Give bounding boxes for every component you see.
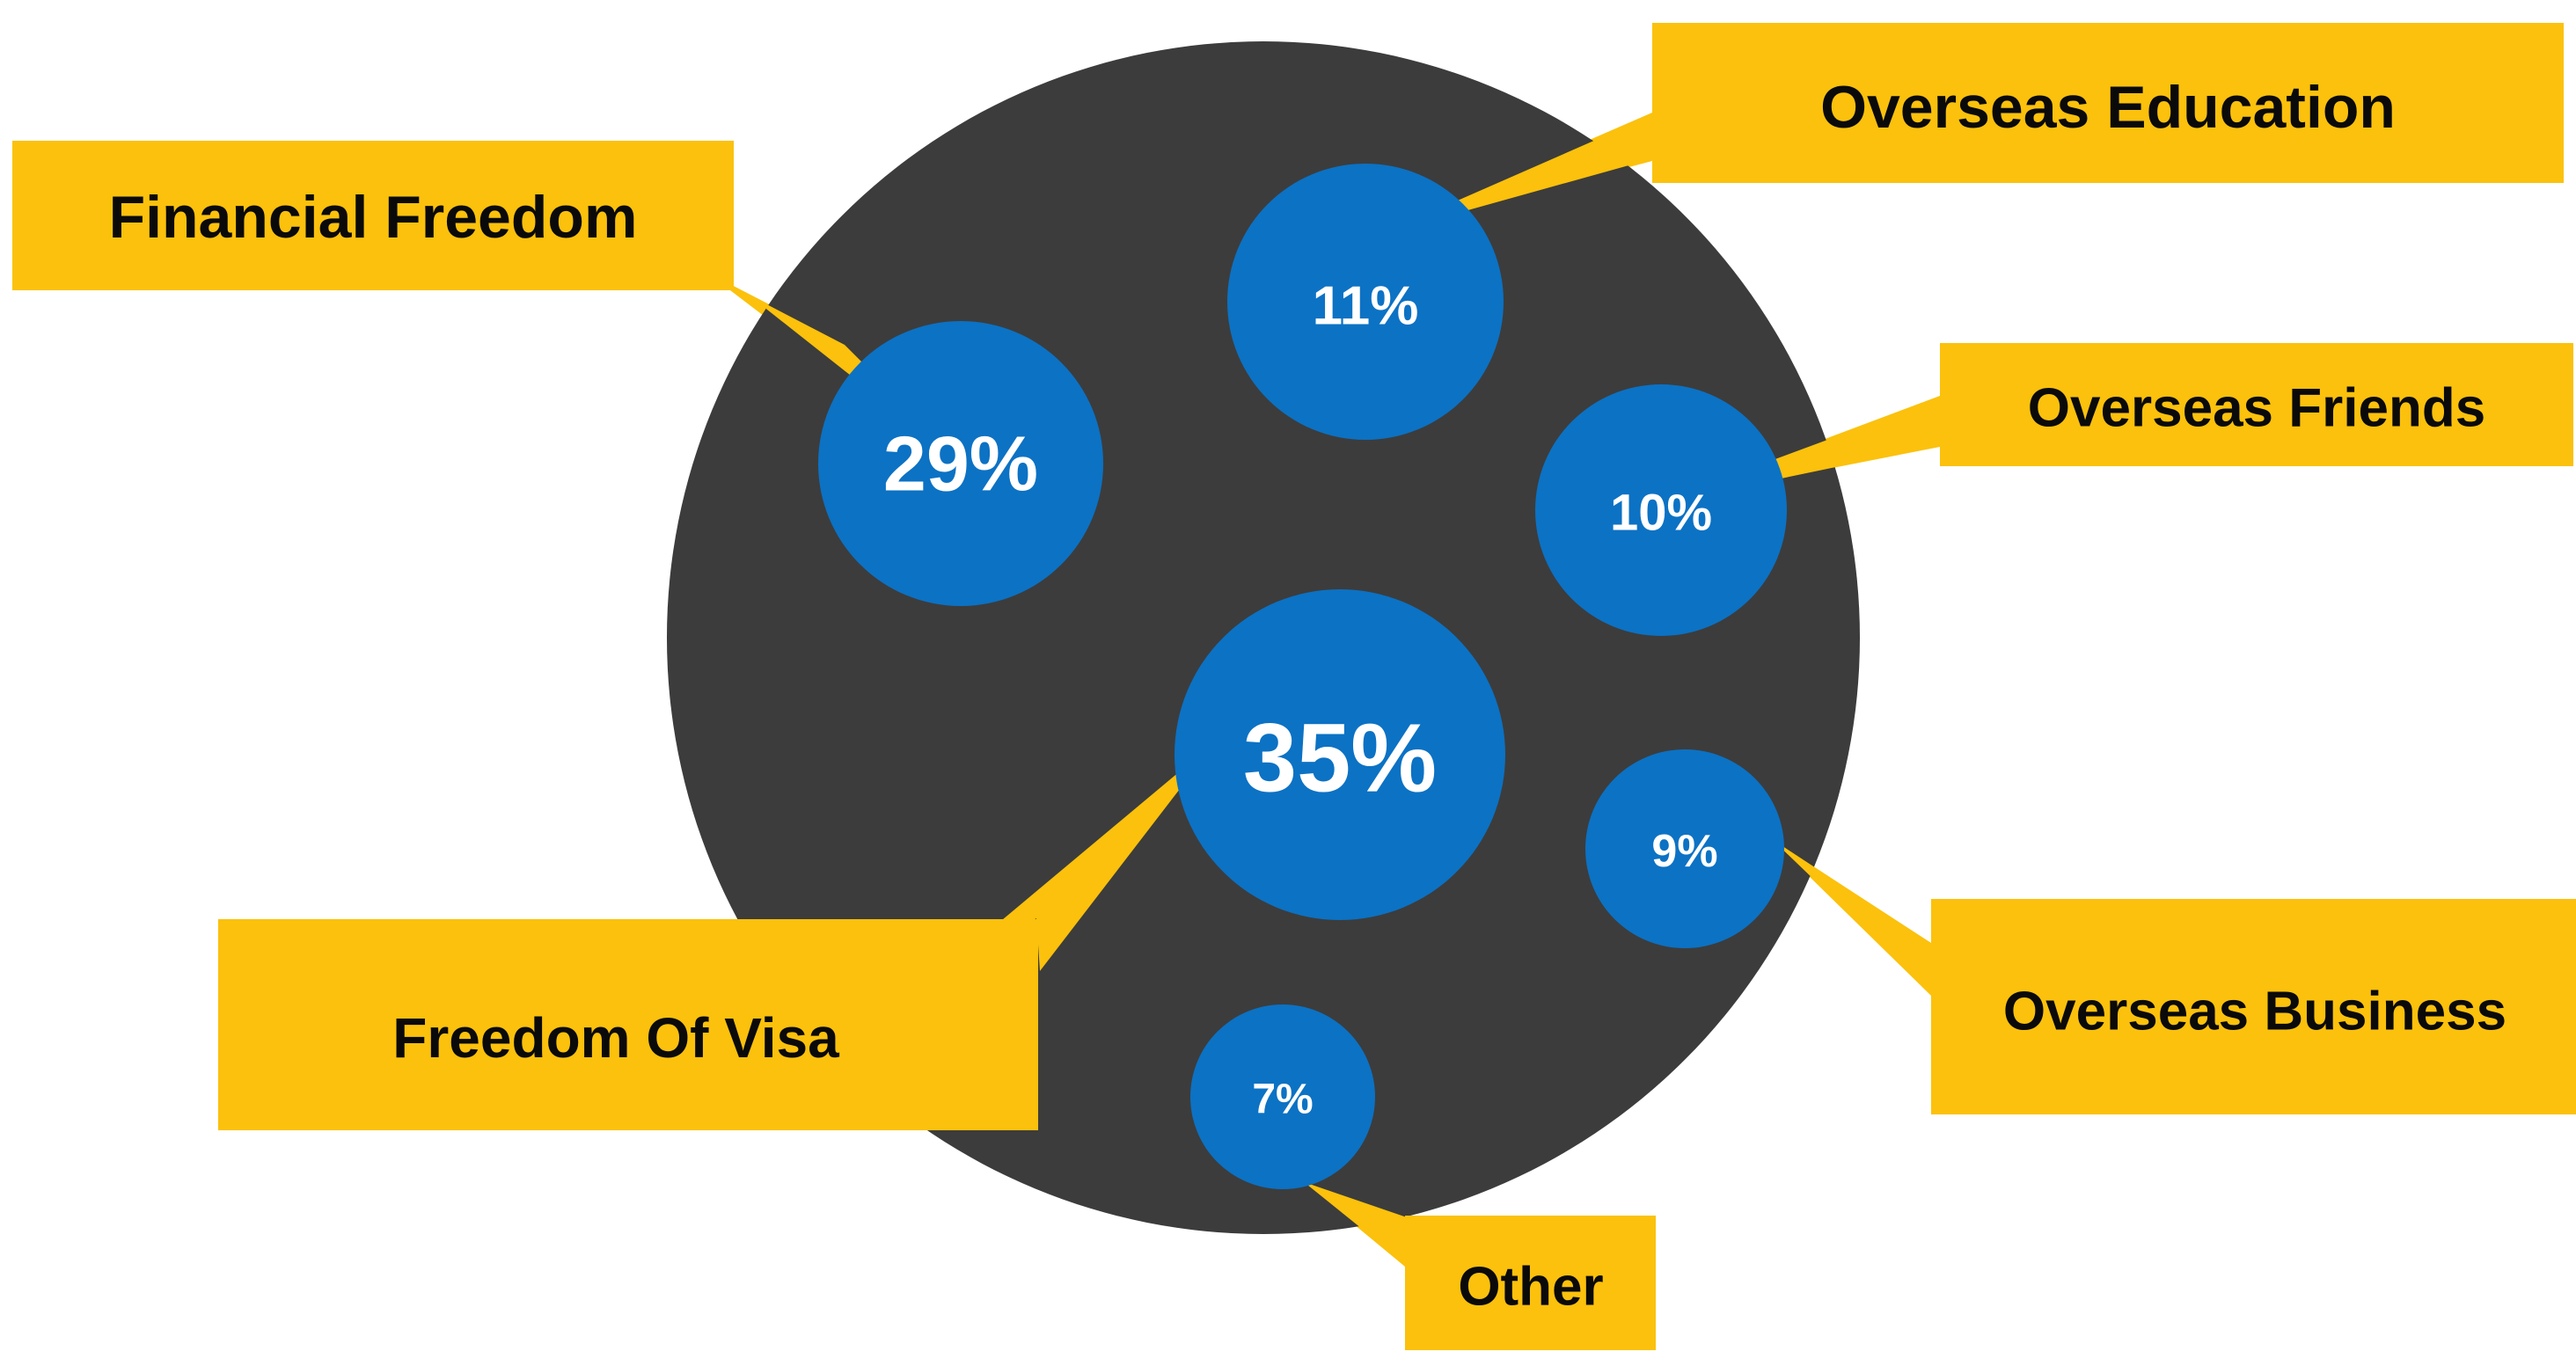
callout-overseas-business[interactable]: Overseas Business	[1931, 899, 2576, 1114]
bubble-value-label: 7%	[1252, 1077, 1313, 1123]
bubble-overseas-business[interactable]: 9%	[1585, 749, 1784, 948]
callout-overseas-friends[interactable]: Overseas Friends	[1940, 343, 2573, 466]
bubble-overseas-friends[interactable]: 10%	[1535, 384, 1787, 636]
callout-label: Overseas Business	[2003, 982, 2506, 1042]
bubble-value-label: 9%	[1651, 826, 1717, 877]
bubble-value-label: 35%	[1243, 705, 1437, 813]
bubble-freedom-of-visa[interactable]: 35%	[1175, 589, 1505, 920]
callout-label: Overseas Education	[1820, 74, 2396, 141]
bubble-overseas-education[interactable]: 11%	[1227, 164, 1504, 440]
bubble-value-label: 29%	[883, 420, 1038, 508]
bubble-other[interactable]: 7%	[1190, 1004, 1375, 1189]
callout-overseas-education[interactable]: Overseas Education	[1652, 23, 2564, 183]
callout-label: Financial Freedom	[109, 184, 638, 251]
bubble-value-label: 10%	[1610, 485, 1712, 542]
callout-label: Overseas Friends	[2028, 378, 2485, 439]
callout-freedom-of-visa[interactable]: Freedom Of Visa	[218, 919, 1038, 1130]
bubble-value-label: 11%	[1313, 276, 1419, 337]
callout-financial-freedom[interactable]: Financial Freedom	[12, 141, 734, 290]
bubble-chart-infographic: 29% 11% 10% 35% 9% 7% Financial Freedom …	[0, 0, 2576, 1366]
bubble-financial-freedom[interactable]: 29%	[818, 321, 1103, 606]
callout-label: Other	[1458, 1257, 1603, 1318]
callout-other[interactable]: Other	[1405, 1216, 1656, 1350]
callout-label: Freedom Of Visa	[392, 1006, 839, 1070]
